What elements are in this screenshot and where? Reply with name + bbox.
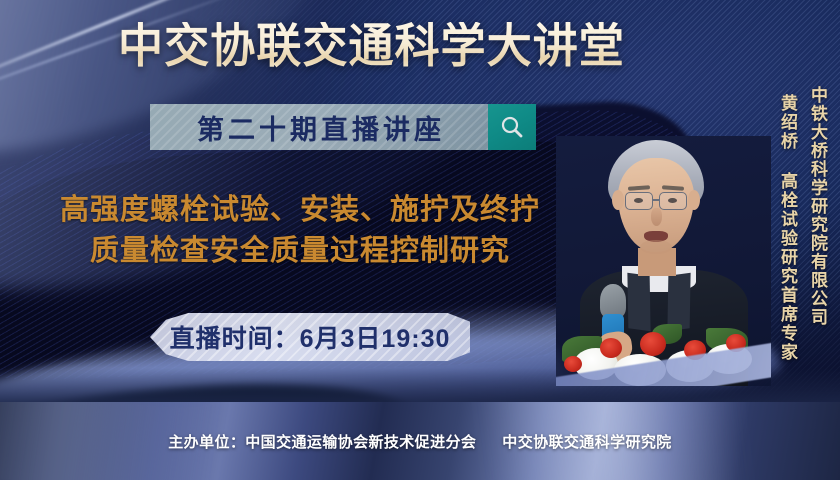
- microphone-head-icon: [600, 284, 626, 318]
- lecture-topic: 高强度螺栓试验、安装、施拧及终拧 质量检查安全质量过程控制研究: [0, 190, 600, 272]
- search-icon: [499, 114, 525, 140]
- photo-chin: [640, 240, 672, 254]
- speaker-organization: 中铁大桥科学研究院有限公司: [805, 86, 830, 327]
- broadcast-time-text: 直播时间：6月3日19:30: [170, 319, 451, 355]
- footer-organizers: 主办单位：中国交通运输协会新技术促进分会 中交协联交通科学研究院: [0, 402, 840, 480]
- footer-organizer-secondary: 中交协联交通科学研究院: [502, 431, 671, 452]
- photo-glasses-lens-left: [625, 192, 653, 210]
- photo-nose: [651, 208, 662, 226]
- speaker-name-title: 黄绍桥 高栓试验研究首席专家: [775, 94, 800, 362]
- photo-glasses-lens-right: [659, 192, 687, 210]
- subtitle-bar: 第二十期直播讲座: [150, 104, 488, 150]
- search-button[interactable]: [488, 104, 536, 150]
- photo-glasses-bridge: [653, 199, 659, 201]
- photo-ear-right: [688, 190, 700, 210]
- lecture-topic-line-1: 高强度螺栓试验、安装、施拧及终拧: [0, 190, 600, 231]
- footer-organizer-primary: 主办单位：中国交通运输协会新技术促进分会: [168, 431, 476, 452]
- page-title: 中交协联交通科学大讲堂: [118, 22, 625, 69]
- broadcast-time-badge: 直播时间：6月3日19:30: [150, 313, 470, 361]
- subtitle-label: 第二十期直播讲座: [193, 108, 445, 147]
- webinar-poster: 中交协联交通科学大讲堂 第二十期直播讲座 高强度螺栓试验、安装、施拧及终拧 质量…: [0, 0, 840, 480]
- photo-bottom-fade: [556, 350, 771, 386]
- photo-ear-left: [612, 190, 624, 210]
- subtitle-banner: 第二十期直播讲座: [150, 104, 536, 150]
- lecture-topic-line-2: 质量检查安全质量过程控制研究: [0, 231, 600, 272]
